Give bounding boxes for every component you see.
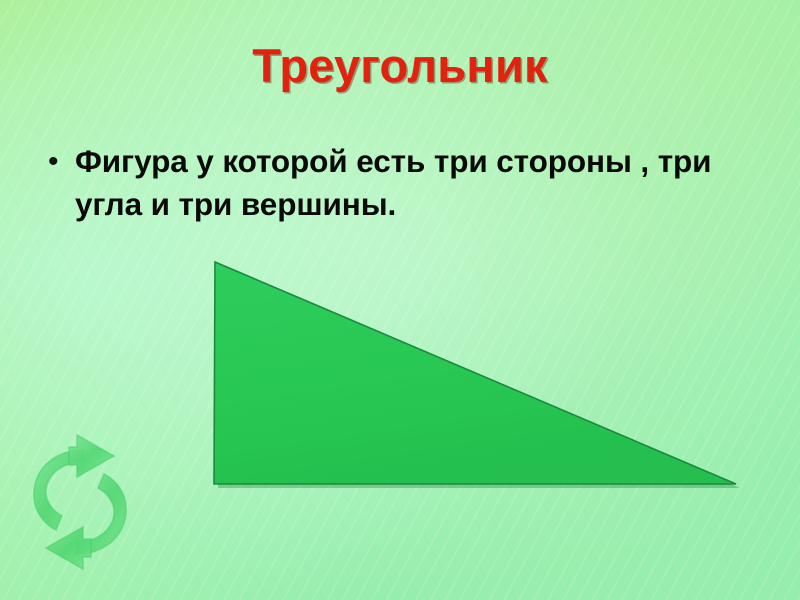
recycle-arrows-icon: [22, 432, 138, 572]
bullet-text: Фигура у которой есть три стороны , три …: [75, 140, 772, 226]
slide-canvas: Треугольник • Фигура у которой есть три …: [0, 0, 800, 600]
recycle-arrows-svg: [22, 432, 138, 572]
bullet-marker-icon: •: [42, 140, 75, 183]
content-body: • Фигура у которой есть три стороны , тр…: [42, 140, 772, 226]
slide-title: Треугольник: [0, 42, 800, 89]
list-item: • Фигура у которой есть три стороны , тр…: [42, 140, 772, 226]
